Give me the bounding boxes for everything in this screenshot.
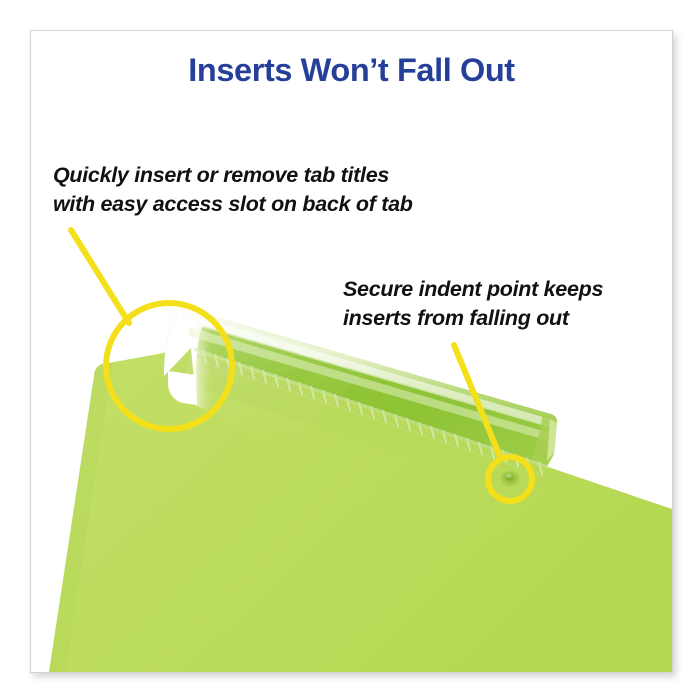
image-frame: Inserts Won’t Fall Out Quickly insert or… — [30, 30, 673, 673]
product-photograph — [31, 31, 672, 672]
annotation-secure-indent-point: Secure indent point keeps inserts from f… — [343, 275, 603, 333]
indent-point — [500, 471, 520, 487]
product-feature-image: Inserts Won’t Fall Out Quickly insert or… — [0, 0, 700, 700]
divider-illustration — [31, 31, 672, 672]
annotation-easy-access-slot: Quickly insert or remove tab titles with… — [53, 161, 413, 219]
page-title: Inserts Won’t Fall Out — [31, 53, 672, 87]
